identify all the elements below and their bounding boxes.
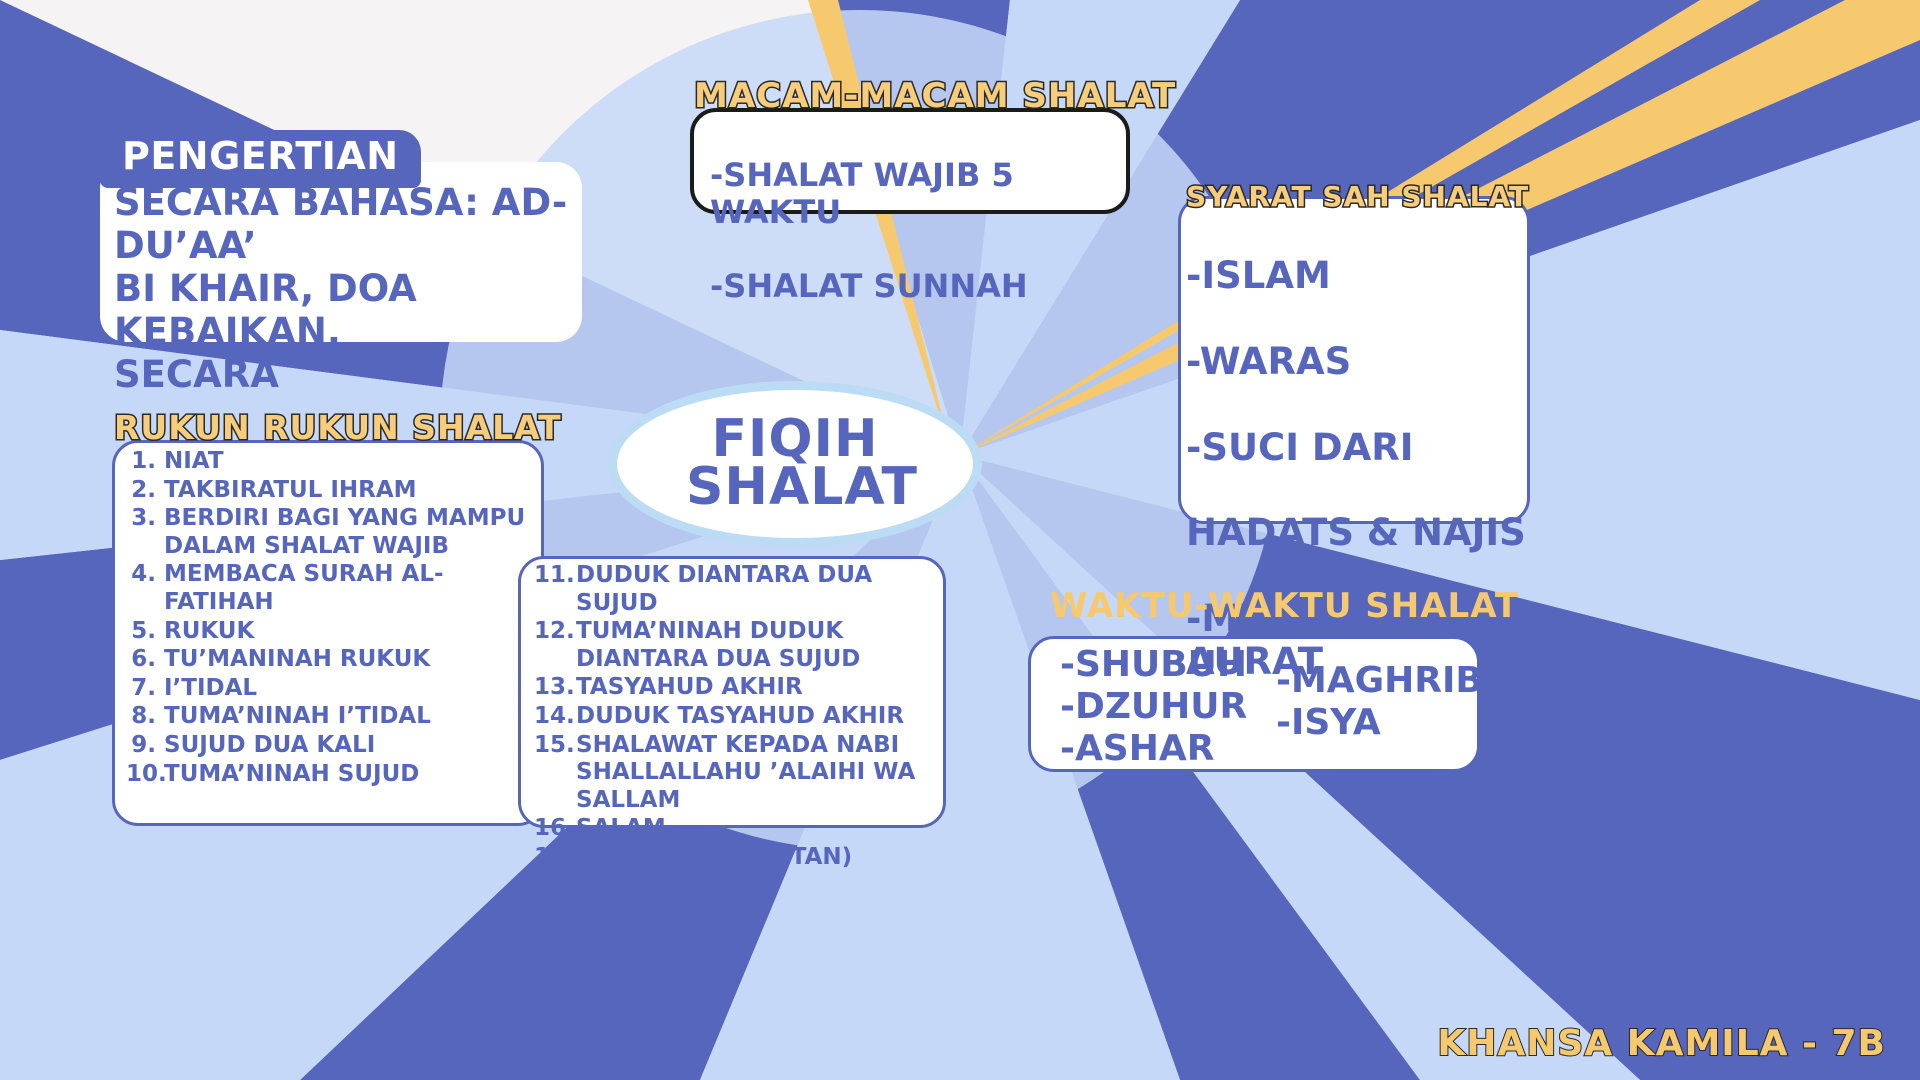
rukun-item-number: 9. bbox=[126, 732, 156, 760]
rukun-list-column-1: 1.NIAT2.TAKBIRATUL IHRAM3.BERDIRI BAGI Y… bbox=[126, 448, 546, 789]
infographic-canvas: PENGERTIAN SECARA BAHASA: AD-DU’AA’ BI K… bbox=[0, 0, 1920, 1080]
rukun-list-item: 2.TAKBIRATUL IHRAM bbox=[126, 477, 546, 505]
macam-macam-list: -SHALAT WAJIB 5 WAKTU -SHALAT SUNNAH bbox=[710, 120, 1130, 343]
rukun-list-item: 6.TU’MANINAH RUKUK bbox=[126, 646, 546, 674]
rukun-item-number: 2. bbox=[126, 477, 156, 505]
rukun-item-number: 14. bbox=[534, 703, 568, 731]
rukun-item-text: TUMA’NINAH I’TIDAL bbox=[164, 703, 546, 731]
rukun-list-item: 11.DUDUK DIANTARA DUA SUJUD bbox=[534, 562, 946, 617]
heading-syarat-sah-shalat: SYARAT SAH SHALAT bbox=[1186, 180, 1529, 213]
author-signature: KHANSA KAMILA - 7B bbox=[1437, 1023, 1886, 1064]
rukun-item-number: 11. bbox=[534, 562, 568, 590]
center-topic-oval: FIQIH SHALAT bbox=[608, 381, 982, 547]
rukun-item-number: 16. bbox=[534, 815, 568, 843]
rukun-item-number: 3. bbox=[126, 505, 156, 533]
macam-item: -SHALAT SUNNAH bbox=[710, 268, 1130, 305]
rukun-item-number: 6. bbox=[126, 646, 156, 674]
rukun-list-item: 12.TUMA’NINAH DUDUK DIANTARA DUA SUJUD bbox=[534, 618, 946, 673]
rukun-list-item: 16.SALAM bbox=[534, 815, 946, 843]
rukun-item-text: BERDIRI BAGI YANG MAMPU DALAM SHALAT WAJ… bbox=[164, 505, 546, 560]
rukun-list-item: 17.TARTIB (BERURUTAN) bbox=[534, 844, 946, 872]
syarat-item: -SUCI DARI bbox=[1186, 427, 1536, 470]
rukun-list-item: 7.I’TIDAL bbox=[126, 675, 546, 703]
rukun-item-text: TU’MANINAH RUKUK bbox=[164, 646, 546, 674]
rukun-list-item: 3.BERDIRI BAGI YANG MAMPU DALAM SHALAT W… bbox=[126, 505, 546, 560]
rukun-list-column-2: 11.DUDUK DIANTARA DUA SUJUD12.TUMA’NINAH… bbox=[534, 562, 946, 873]
heading-rukun-rukun-shalat: RUKUN RUKUN SHALAT bbox=[114, 408, 562, 447]
pengertian-body-text: SECARA BAHASA: AD-DU’AA’ BI KHAIR, DOA K… bbox=[114, 182, 584, 397]
rukun-item-text: NIAT bbox=[164, 448, 546, 476]
center-line-2: SHALAT bbox=[686, 464, 918, 512]
rukun-list-item: 4.MEMBACA SURAH AL-FATIHAH bbox=[126, 561, 546, 616]
waktu-column-1: -SHUBUH -DZUHUR -ASHAR bbox=[1060, 644, 1247, 769]
rukun-list-item: 13.TASYAHUD AKHIR bbox=[534, 674, 946, 702]
rukun-item-text: I’TIDAL bbox=[164, 675, 546, 703]
rukun-item-text: SALAM bbox=[576, 815, 946, 843]
rukun-item-number: 17. bbox=[534, 844, 568, 872]
rukun-list-item: 15.SHALAWAT KEPADA NABI SHALLALLAHU ’ALA… bbox=[534, 732, 946, 815]
heading-macam-macam-shalat: MACAM-MACAM SHALAT bbox=[694, 76, 1176, 116]
rukun-item-text: SUJUD DUA KALI bbox=[164, 732, 546, 760]
rukun-item-number: 10. bbox=[126, 761, 156, 789]
rukun-list-item: 1.NIAT bbox=[126, 448, 546, 476]
rukun-list-item: 14.DUDUK TASYAHUD AKHIR bbox=[534, 703, 946, 731]
rukun-item-text: TASYAHUD AKHIR bbox=[576, 674, 946, 702]
rukun-item-number: 12. bbox=[534, 618, 568, 646]
rukun-item-number: 4. bbox=[126, 561, 156, 589]
rukun-item-number: 8. bbox=[126, 703, 156, 731]
rukun-item-text: TUMA’NINAH SUJUD bbox=[164, 761, 546, 789]
center-topic-label: FIQIH SHALAT bbox=[672, 416, 918, 512]
rukun-item-number: 7. bbox=[126, 675, 156, 703]
rukun-list-item: 9.SUJUD DUA KALI bbox=[126, 732, 546, 760]
macam-item: -SHALAT WAJIB 5 WAKTU bbox=[710, 157, 1130, 231]
rukun-item-number: 1. bbox=[126, 448, 156, 476]
rukun-item-number: 13. bbox=[534, 674, 568, 702]
heading-waktu-waktu-shalat: WAKTU-WAKTU SHALAT bbox=[1050, 586, 1519, 626]
heading-pengertian: PENGERTIAN bbox=[100, 130, 421, 188]
rukun-item-text: DUDUK DIANTARA DUA SUJUD bbox=[576, 562, 946, 617]
rukun-item-number: 15. bbox=[534, 732, 568, 760]
syarat-item: -ISLAM bbox=[1186, 255, 1536, 298]
rukun-list-item: 10.TUMA’NINAH SUJUD bbox=[126, 761, 546, 789]
rukun-item-text: DUDUK TASYAHUD AKHIR bbox=[576, 703, 946, 731]
rukun-item-text: SHALAWAT KEPADA NABI SHALLALLAHU ’ALAIHI… bbox=[576, 732, 946, 815]
rukun-item-text: RUKUK bbox=[164, 618, 546, 646]
syarat-item: HADATS & NAJIS bbox=[1186, 512, 1536, 555]
rukun-list-item: 8.TUMA’NINAH I’TIDAL bbox=[126, 703, 546, 731]
rukun-item-text: TAKBIRATUL IHRAM bbox=[164, 477, 546, 505]
rukun-item-number: 5. bbox=[126, 618, 156, 646]
rukun-item-text: TARTIB (BERURUTAN) bbox=[576, 844, 946, 872]
rukun-item-text: TUMA’NINAH DUDUK DIANTARA DUA SUJUD bbox=[576, 618, 946, 673]
syarat-item: -WARAS bbox=[1186, 341, 1536, 384]
rukun-list-item: 5.RUKUK bbox=[126, 618, 546, 646]
waktu-column-2: -MAGHRIB -ISYA bbox=[1276, 660, 1483, 744]
rukun-item-text: MEMBACA SURAH AL-FATIHAH bbox=[164, 561, 546, 616]
